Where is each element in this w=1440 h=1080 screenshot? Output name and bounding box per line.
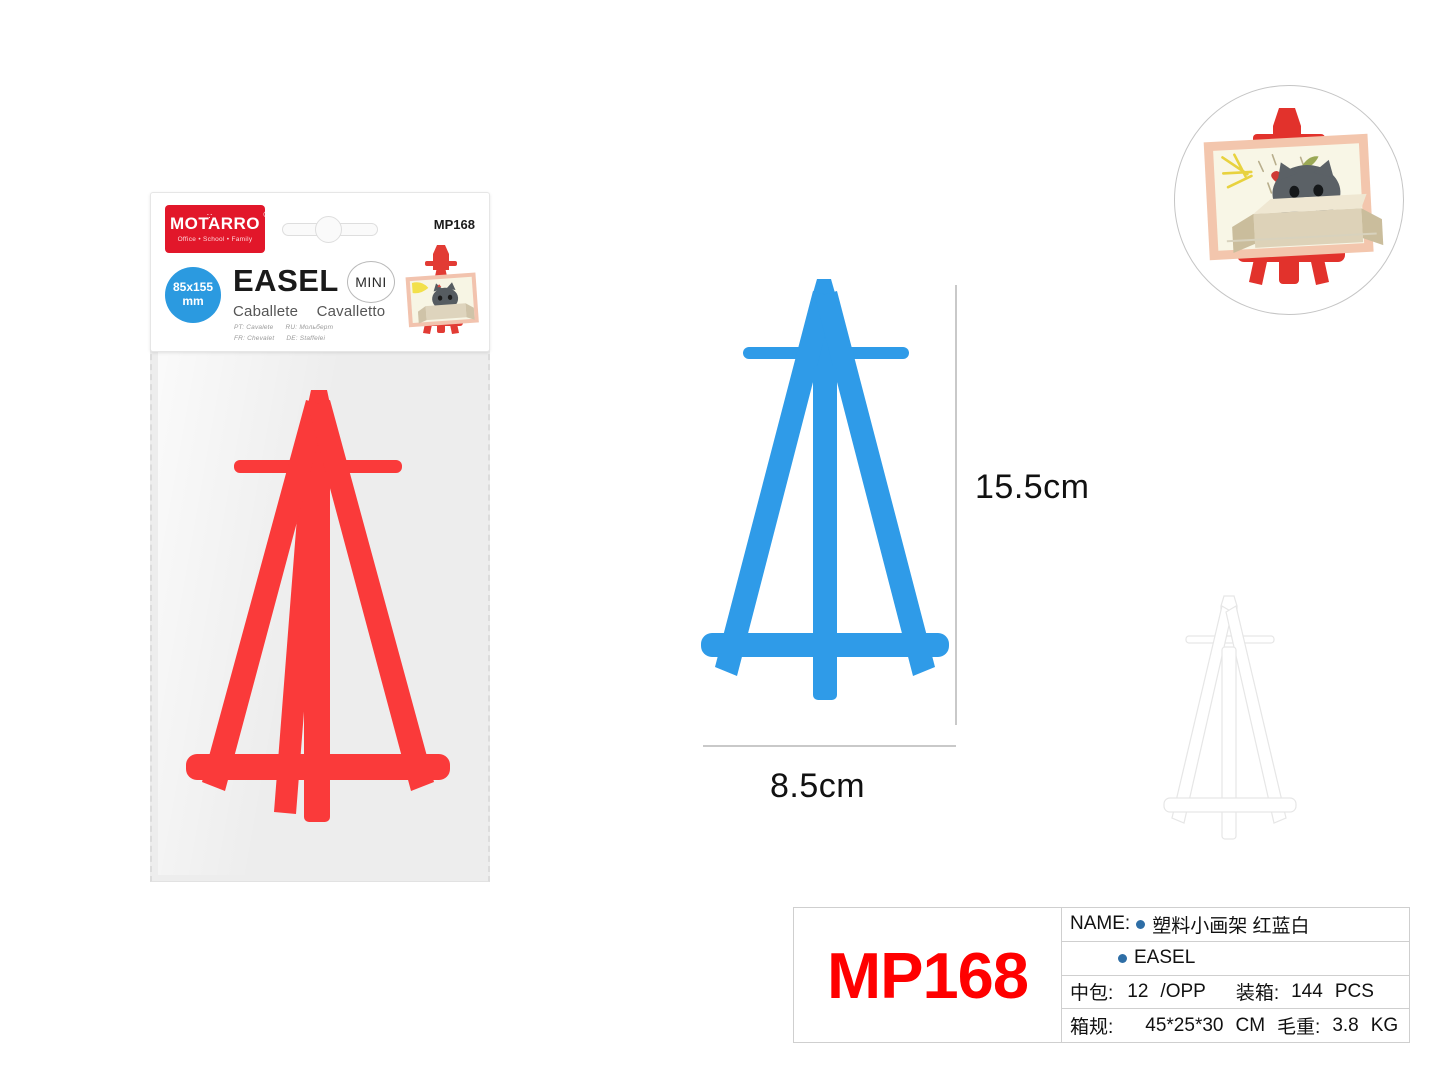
height-dimension-label: 15.5cm — [975, 468, 1090, 507]
spec-sku-cell: MP168 — [794, 908, 1062, 1042]
product-subtitle: Caballete Cavalletto — [233, 303, 399, 320]
inner-pack-unit: /OPP — [1160, 981, 1205, 1003]
brand-tagline: Office • School • Family — [178, 236, 253, 243]
card-artwork-easel-with-painting — [397, 241, 485, 346]
bullet-dot-icon — [1136, 920, 1145, 929]
carton-unit: PCS — [1335, 981, 1374, 1003]
width-dimension-line — [703, 745, 956, 747]
subtitle-spanish: Caballete — [233, 303, 298, 320]
size-badge-line1: 85x155 — [173, 281, 213, 295]
size-badge: 85x155 mm — [165, 267, 221, 323]
carton-size-value: 45*25*30 — [1145, 1015, 1223, 1037]
hang-hole-circle — [315, 216, 342, 243]
brand-name-text: MOTARRO — [170, 214, 260, 233]
inner-pack-label: 中包: — [1070, 978, 1113, 1005]
carton-qty: 144 — [1291, 981, 1323, 1003]
easel-product-red — [168, 382, 468, 852]
package-header-card: ∵ MOTARRO ® Office • School • Family MP1… — [150, 192, 490, 352]
spec-name-label: NAME: — [1070, 913, 1130, 935]
spec-table: MP168 NAME: 塑料小画架 红蓝白 EASEL 中包: 12 /OPP … — [793, 907, 1410, 1043]
brand-name: MOTARRO ® — [170, 215, 260, 232]
mini-badge: MINI — [347, 261, 395, 303]
gross-weight-value: 3.8 — [1332, 1015, 1358, 1037]
subtitle-italian: Cavalletto — [317, 303, 386, 320]
inner-pack-qty: 12 — [1127, 981, 1148, 1003]
carton-size-unit: CM — [1235, 1015, 1265, 1037]
carton-label: 装箱: — [1236, 978, 1279, 1005]
height-dimension-line — [955, 285, 957, 725]
product-title: EASEL — [233, 265, 339, 296]
bullet-dot-icon — [1118, 954, 1127, 963]
easel-product-blue — [695, 275, 955, 730]
translation-de: DE: Staffelei — [286, 335, 325, 342]
euro-hang-hole — [282, 216, 378, 242]
carton-size-label: 箱规: — [1070, 1012, 1113, 1039]
spec-row-name-en: EASEL — [1062, 942, 1409, 976]
gross-weight-label: 毛重: — [1277, 1012, 1320, 1039]
gross-weight-unit: KG — [1371, 1015, 1398, 1037]
translation-pt: PT: Cavalete — [234, 324, 274, 331]
registered-mark: ® — [263, 212, 269, 219]
spec-row-carton-size: 箱规: 45*25*30 CM 毛重: 3.8 KG — [1062, 1009, 1409, 1042]
inset-artwork-cat-painting-on-easel — [1175, 86, 1403, 314]
spec-name-en: EASEL — [1134, 947, 1195, 969]
spec-rows: NAME: 塑料小画架 红蓝白 EASEL 中包: 12 /OPP 装箱: 14… — [1062, 908, 1409, 1042]
translations-line-1: PT: Cavalete RU: Мольберт — [234, 324, 343, 331]
spec-name-cn: 塑料小画架 红蓝白 — [1152, 911, 1309, 938]
package-sku-code: MP168 — [434, 217, 475, 232]
translation-fr: FR: Chevalet — [234, 335, 274, 342]
spec-row-packing: 中包: 12 /OPP 装箱: 144 PCS — [1062, 976, 1409, 1010]
size-badge-line2: mm — [182, 295, 203, 309]
translation-ru: RU: Мольберт — [286, 324, 334, 331]
product-package: ∵ MOTARRO ® Office • School • Family MP1… — [150, 192, 490, 882]
brand-logo: ∵ MOTARRO ® Office • School • Family — [165, 205, 265, 253]
translations-line-2: FR: Chevalet DE: Staffelei — [234, 335, 335, 342]
spec-row-name-cn: NAME: 塑料小画架 红蓝白 — [1062, 908, 1409, 942]
spec-sku-text: MP168 — [827, 943, 1028, 1008]
lifestyle-inset-circle — [1174, 85, 1404, 315]
width-dimension-label: 8.5cm — [770, 767, 865, 806]
easel-product-white — [1160, 592, 1300, 854]
